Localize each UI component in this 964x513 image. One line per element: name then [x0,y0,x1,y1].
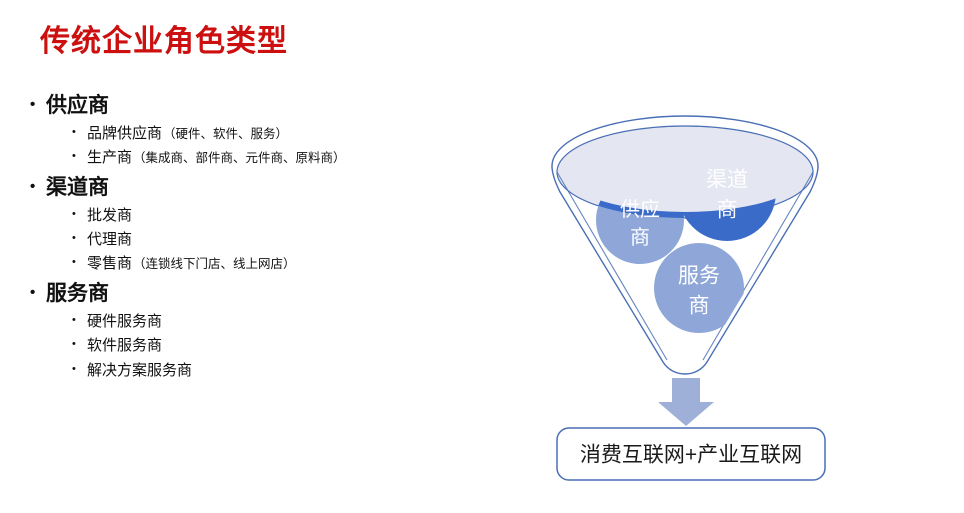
bullet-icon: • [72,151,87,162]
bullet-icon: • [72,339,87,350]
outline-list: • 供应商 • 品牌供应商 （硬件、软件、服务） • 生产商 （集成商、部件商、… [30,90,500,385]
circle-channel-label: 渠道 [706,169,748,192]
bullet-icon: • [72,315,87,326]
list-item-label: 品牌供应商 [87,122,162,146]
bullet-icon: • [72,127,87,138]
down-arrow-icon [658,378,714,426]
outline-group: • 服务商 • 硬件服务商 • 软件服务商 • 解决方案服务商 [30,278,500,382]
bullet-icon: • [30,97,46,112]
circle-supplier-label: 供应 [620,198,660,221]
circle-supplier-label-2: 商 [630,226,650,249]
circle-channel-label-2: 商 [717,199,738,222]
outline-heading-label: 服务商 [46,278,109,310]
bullet-icon: • [72,257,87,268]
bullet-icon: • [72,209,87,220]
list-item-label: 生产商 [87,146,132,170]
page-title: 传统企业角色类型 [40,16,288,60]
outline-heading-supplier: • 供应商 [30,90,500,122]
bullet-icon: • [30,179,46,194]
list-item: • 批发商 [30,204,500,228]
result-box-label: 消费互联网+产业互联网 [580,444,802,467]
outline-heading-label: 供应商 [46,90,109,122]
list-item-note: （集成商、部件商、元件商、原料商） [133,148,346,168]
list-item-label: 软件服务商 [87,334,162,358]
funnel-diagram: 供应 商 渠道 商 服务 商 消费互联网+产业互联网 [515,110,855,485]
circle-service-label-2: 商 [689,295,710,318]
list-item: • 硬件服务商 [30,310,500,334]
list-item: • 品牌供应商 （硬件、软件、服务） [30,122,500,146]
outline-group: • 供应商 • 品牌供应商 （硬件、软件、服务） • 生产商 （集成商、部件商、… [30,90,500,170]
bullet-icon: • [72,364,87,375]
list-item: • 软件服务商 [30,334,500,358]
list-item: • 代理商 [30,228,500,252]
list-item-note: （连锁线下门店、线上网店） [133,254,296,274]
circle-service-label: 服务 [678,265,720,288]
list-item-label: 批发商 [87,204,132,228]
funnel-inner-rim [557,126,813,218]
list-item-label: 代理商 [87,228,132,252]
outline-heading-label: 渠道商 [46,172,109,204]
list-item: • 解决方案服务商 [30,359,500,383]
bullet-icon: • [30,285,46,300]
list-item-label: 硬件服务商 [87,310,162,334]
list-item-label: 解决方案服务商 [87,359,192,383]
list-item-note: （硬件、软件、服务） [163,124,288,144]
outline-group: • 渠道商 • 批发商 • 代理商 • 零售商 （连锁线下门店、线上网店） [30,172,500,276]
outline-heading-channel: • 渠道商 [30,172,500,204]
list-item: • 生产商 （集成商、部件商、元件商、原料商） [30,146,500,170]
outline-heading-service: • 服务商 [30,278,500,310]
bullet-icon: • [72,233,87,244]
list-item-label: 零售商 [87,252,132,276]
list-item: • 零售商 （连锁线下门店、线上网店） [30,252,500,276]
